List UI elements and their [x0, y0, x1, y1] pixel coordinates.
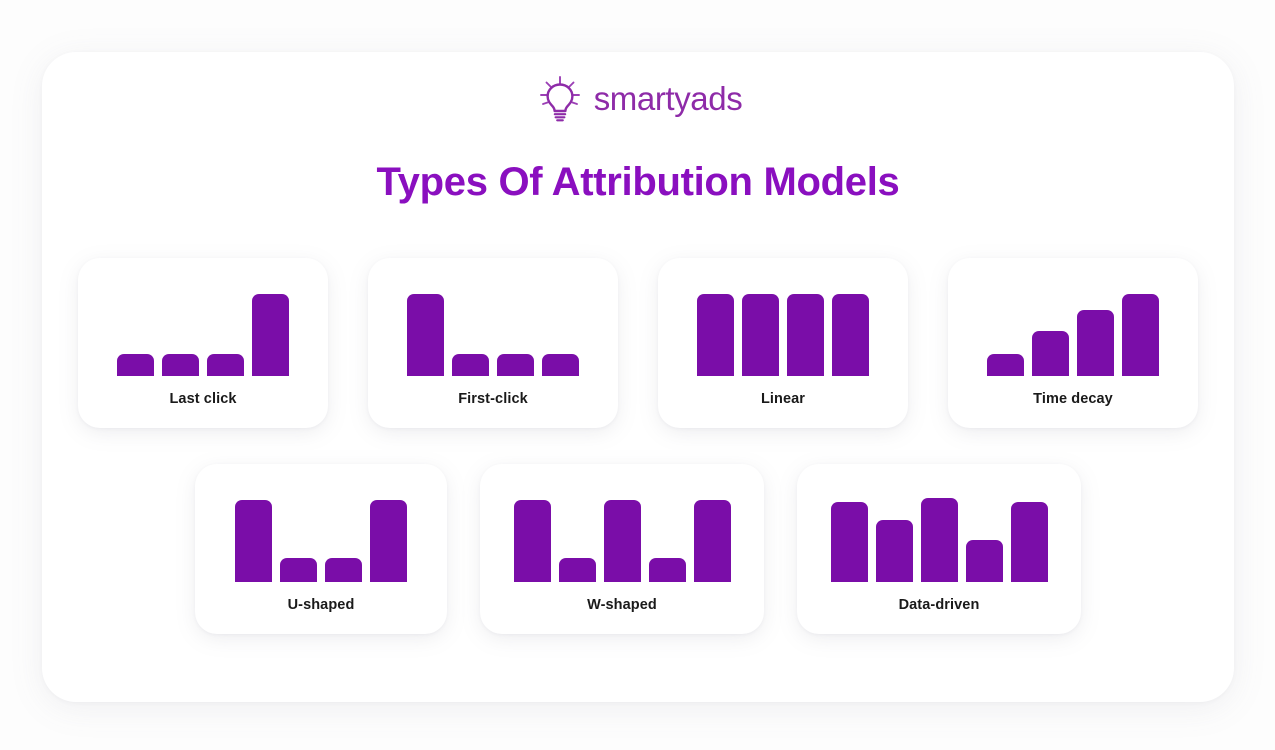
card-first-click[interactable]: First-click	[368, 258, 618, 428]
bar	[604, 500, 641, 582]
card-label-last-click: Last click	[169, 392, 236, 407]
brand-logo: smartyads	[42, 68, 1234, 130]
bar	[1032, 331, 1069, 376]
bar	[542, 354, 579, 376]
brand-wordmark: smartyads	[594, 82, 743, 117]
card-row-top: Last click First-click Linear	[42, 258, 1234, 428]
bars-u-shaped	[235, 486, 407, 582]
card-label-u-shaped: U-shaped	[288, 598, 355, 613]
bar	[787, 294, 824, 376]
card-w-shaped[interactable]: W-shaped	[480, 464, 764, 634]
bar	[252, 294, 289, 376]
card-last-click[interactable]: Last click	[78, 258, 328, 428]
card-u-shaped[interactable]: U-shaped	[195, 464, 447, 634]
bar	[452, 354, 489, 376]
card-time-decay[interactable]: Time decay	[948, 258, 1198, 428]
bar	[1011, 502, 1048, 582]
lightbulb-icon	[534, 73, 586, 125]
card-label-linear: Linear	[761, 392, 805, 407]
bar	[742, 294, 779, 376]
bars-data-driven	[831, 486, 1048, 582]
bar	[207, 354, 244, 376]
bar	[235, 500, 272, 582]
bars-first-click	[407, 280, 579, 376]
bar	[162, 354, 199, 376]
card-label-time-decay: Time decay	[1033, 392, 1113, 407]
bars-linear	[697, 280, 869, 376]
bars-time-decay	[987, 280, 1159, 376]
bar	[280, 558, 317, 582]
bar	[966, 540, 1003, 582]
card-label-first-click: First-click	[458, 392, 528, 407]
bar	[1077, 310, 1114, 376]
card-linear[interactable]: Linear	[658, 258, 908, 428]
bar	[876, 520, 913, 582]
bar	[697, 294, 734, 376]
bar	[921, 498, 958, 582]
bar	[694, 500, 731, 582]
bar	[325, 558, 362, 582]
bar	[832, 294, 869, 376]
bar	[1122, 294, 1159, 376]
bar	[559, 558, 596, 582]
card-data-driven[interactable]: Data-driven	[797, 464, 1081, 634]
bars-last-click	[117, 280, 289, 376]
card-label-data-driven: Data-driven	[899, 598, 980, 613]
bar	[987, 354, 1024, 376]
infographic-stage: smartyads Types Of Attribution Models La…	[0, 0, 1275, 750]
bar	[514, 500, 551, 582]
bar	[649, 558, 686, 582]
bar	[407, 294, 444, 376]
content-panel: smartyads Types Of Attribution Models La…	[42, 52, 1234, 702]
page-title: Types Of Attribution Models	[42, 160, 1234, 205]
bar	[117, 354, 154, 376]
bar	[831, 502, 868, 582]
bar	[370, 500, 407, 582]
bars-w-shaped	[514, 486, 731, 582]
card-label-w-shaped: W-shaped	[587, 598, 657, 613]
card-row-bottom: U-shaped W-shaped	[42, 464, 1234, 634]
bar	[497, 354, 534, 376]
